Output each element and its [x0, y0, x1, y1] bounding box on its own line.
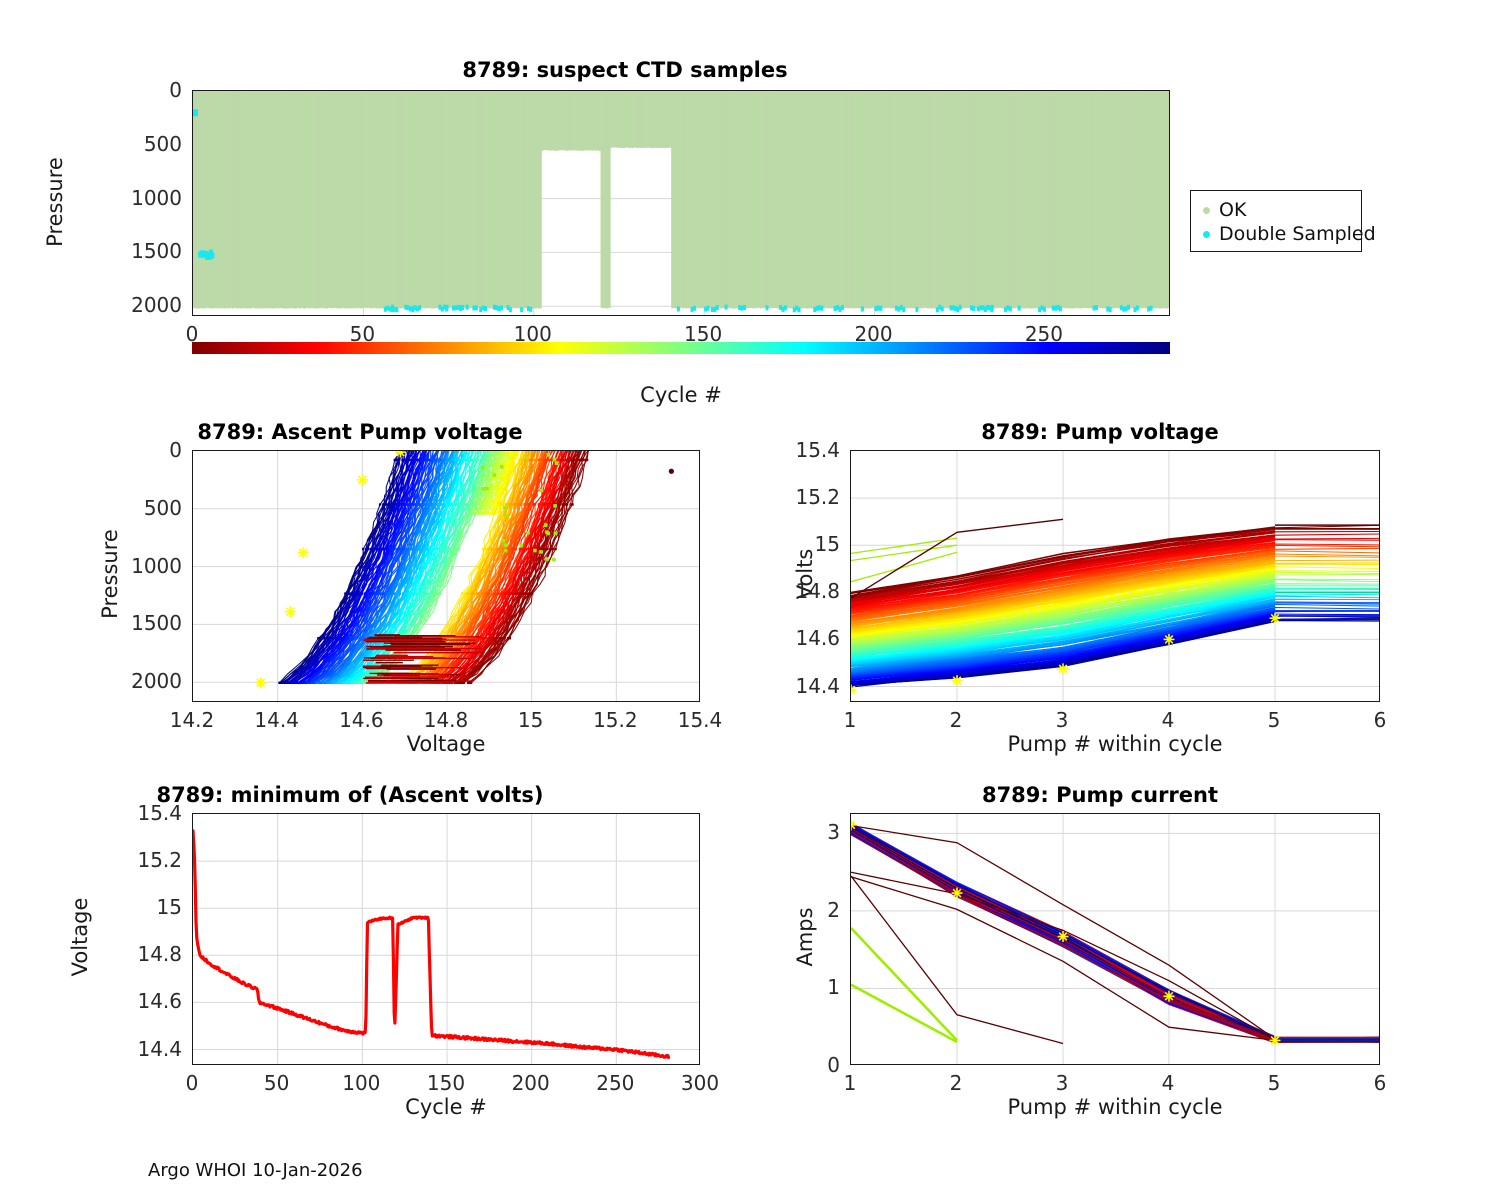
panel-suspect-ctd-samples: 8789: suspect CTD samples Pressure 05001…: [0, 0, 1250, 400]
x-tick-label: 14.4: [254, 708, 299, 732]
x-tick-label: 200: [512, 1071, 550, 1095]
y-axis-label-volts: Volts: [793, 504, 817, 644]
x-tick-label: 3: [1056, 1071, 1069, 1095]
x-tick-label: 14.6: [339, 708, 384, 732]
y-tick-label: 500: [0, 132, 182, 156]
y-tick-label: 0: [0, 438, 182, 462]
y-tick-label: 14.4: [0, 1037, 182, 1061]
y-tick-label: 14.8: [0, 942, 182, 966]
axes-minimum-ascent-volts: [192, 813, 700, 1065]
panel-title-pump-current: 8789: Pump current: [820, 783, 1380, 807]
y-tick-label: 14.8: [730, 579, 840, 603]
legend-marker-ok-dot: [1203, 207, 1210, 214]
x-tick-label: 0: [186, 322, 199, 346]
y-tick-label: 0: [730, 1053, 840, 1077]
y-tick-label: 15.2: [730, 485, 840, 509]
x-tick-label: 5: [1268, 1071, 1281, 1095]
y-tick-label: 2: [730, 898, 840, 922]
y-tick-label: 14.6: [0, 989, 182, 1013]
x-tick-label: 1: [844, 708, 857, 732]
panel-minimum-ascent-volts: 8789: minimum of (Ascent volts) Voltage …: [0, 775, 720, 1125]
legend-item-ok: OK: [1199, 198, 1351, 222]
x-tick-label: 14.8: [424, 708, 469, 732]
y-tick-label: 15.4: [730, 438, 840, 462]
x-axis-label-cycle-top: Cycle #: [192, 383, 1170, 407]
y-tick-label: 1000: [0, 554, 182, 578]
x-tick-label: 2: [950, 1071, 963, 1095]
x-tick-label: 4: [1162, 708, 1175, 732]
figure-canvas: 8789: suspect CTD samples Pressure 05001…: [0, 0, 1500, 1200]
y-tick-label: 15.2: [0, 848, 182, 872]
x-tick-label: 50: [264, 1071, 289, 1095]
y-tick-label: 1: [730, 975, 840, 999]
x-tick-label: 250: [1025, 322, 1063, 346]
y-tick-label: 1500: [0, 611, 182, 635]
axes-ascent-pump-voltage: [192, 450, 700, 702]
panel-title-pump-voltage: 8789: Pump voltage: [820, 420, 1380, 444]
x-tick-label: 2: [950, 708, 963, 732]
x-tick-label: 6: [1374, 708, 1387, 732]
y-tick-label: 15.4: [0, 801, 182, 825]
x-tick-label: 250: [596, 1071, 634, 1095]
x-tick-label: 3: [1056, 708, 1069, 732]
x-tick-label: 200: [854, 322, 892, 346]
x-tick-label: 150: [684, 322, 722, 346]
x-tick-label: 300: [681, 1071, 719, 1095]
x-tick-label: 0: [186, 1071, 199, 1095]
panel-title-suspect-ctd: 8789: suspect CTD samples: [0, 58, 1250, 82]
y-tick-label: 14.6: [730, 626, 840, 650]
panel-pump-current: 8789: Pump current Amps 0123 123456 Pump…: [740, 775, 1500, 1125]
x-tick-label: 100: [342, 1071, 380, 1095]
y-tick-label: 500: [0, 496, 182, 520]
x-axis-label-pump-num-bottom: Pump # within cycle: [850, 1095, 1380, 1119]
cycle-colorbar: [192, 342, 1170, 354]
legend-label-ok: OK: [1219, 199, 1246, 221]
axes-suspect-ctd: [192, 90, 1170, 316]
axes-pump-voltage: [850, 450, 1380, 702]
x-tick-label: 1: [844, 1071, 857, 1095]
y-tick-label: 2000: [0, 669, 182, 693]
y-tick-label: 2000: [0, 293, 182, 317]
y-tick-label: 15: [730, 532, 840, 556]
axes-pump-current: [850, 813, 1380, 1065]
x-tick-label: 15: [518, 708, 543, 732]
panel-pump-voltage: 8789: Pump voltage Volts 14.414.614.8151…: [740, 412, 1500, 762]
plot-area-suspect-ctd: [193, 91, 1170, 316]
x-tick-label: 14.2: [170, 708, 215, 732]
y-tick-label: 15: [0, 895, 182, 919]
x-tick-label: 150: [427, 1071, 465, 1095]
y-axis-label-voltage: Voltage: [68, 867, 92, 1007]
legend-label-double-sampled: Double Sampled: [1219, 223, 1376, 245]
x-tick-label: 5: [1268, 708, 1281, 732]
y-tick-label: 0: [0, 78, 182, 102]
x-tick-label: 15.4: [678, 708, 723, 732]
x-tick-label: 50: [350, 322, 375, 346]
legend-item-double-sampled: Double Sampled: [1199, 222, 1351, 246]
x-axis-label-voltage: Voltage: [192, 732, 700, 756]
footer-credit: Argo WHOI 10-Jan-2026: [148, 1160, 363, 1181]
legend-marker-double-sampled-dot: [1203, 231, 1210, 238]
x-axis-label-cycle-bottom: Cycle #: [192, 1095, 700, 1119]
y-tick-label: 1000: [0, 186, 182, 210]
x-tick-label: 15.2: [593, 708, 638, 732]
y-tick-label: 3: [730, 820, 840, 844]
x-tick-label: 4: [1162, 1071, 1175, 1095]
legend-suspect-ctd: OK Double Sampled: [1190, 190, 1362, 252]
x-tick-label: 100: [514, 322, 552, 346]
y-tick-label: 14.4: [730, 674, 840, 698]
y-tick-label: 1500: [0, 239, 182, 263]
panel-ascent-pump-voltage: 8789: Ascent Pump voltage Pressure 05001…: [0, 412, 720, 762]
x-axis-label-pump-num-top: Pump # within cycle: [850, 732, 1380, 756]
x-tick-label: 6: [1374, 1071, 1387, 1095]
